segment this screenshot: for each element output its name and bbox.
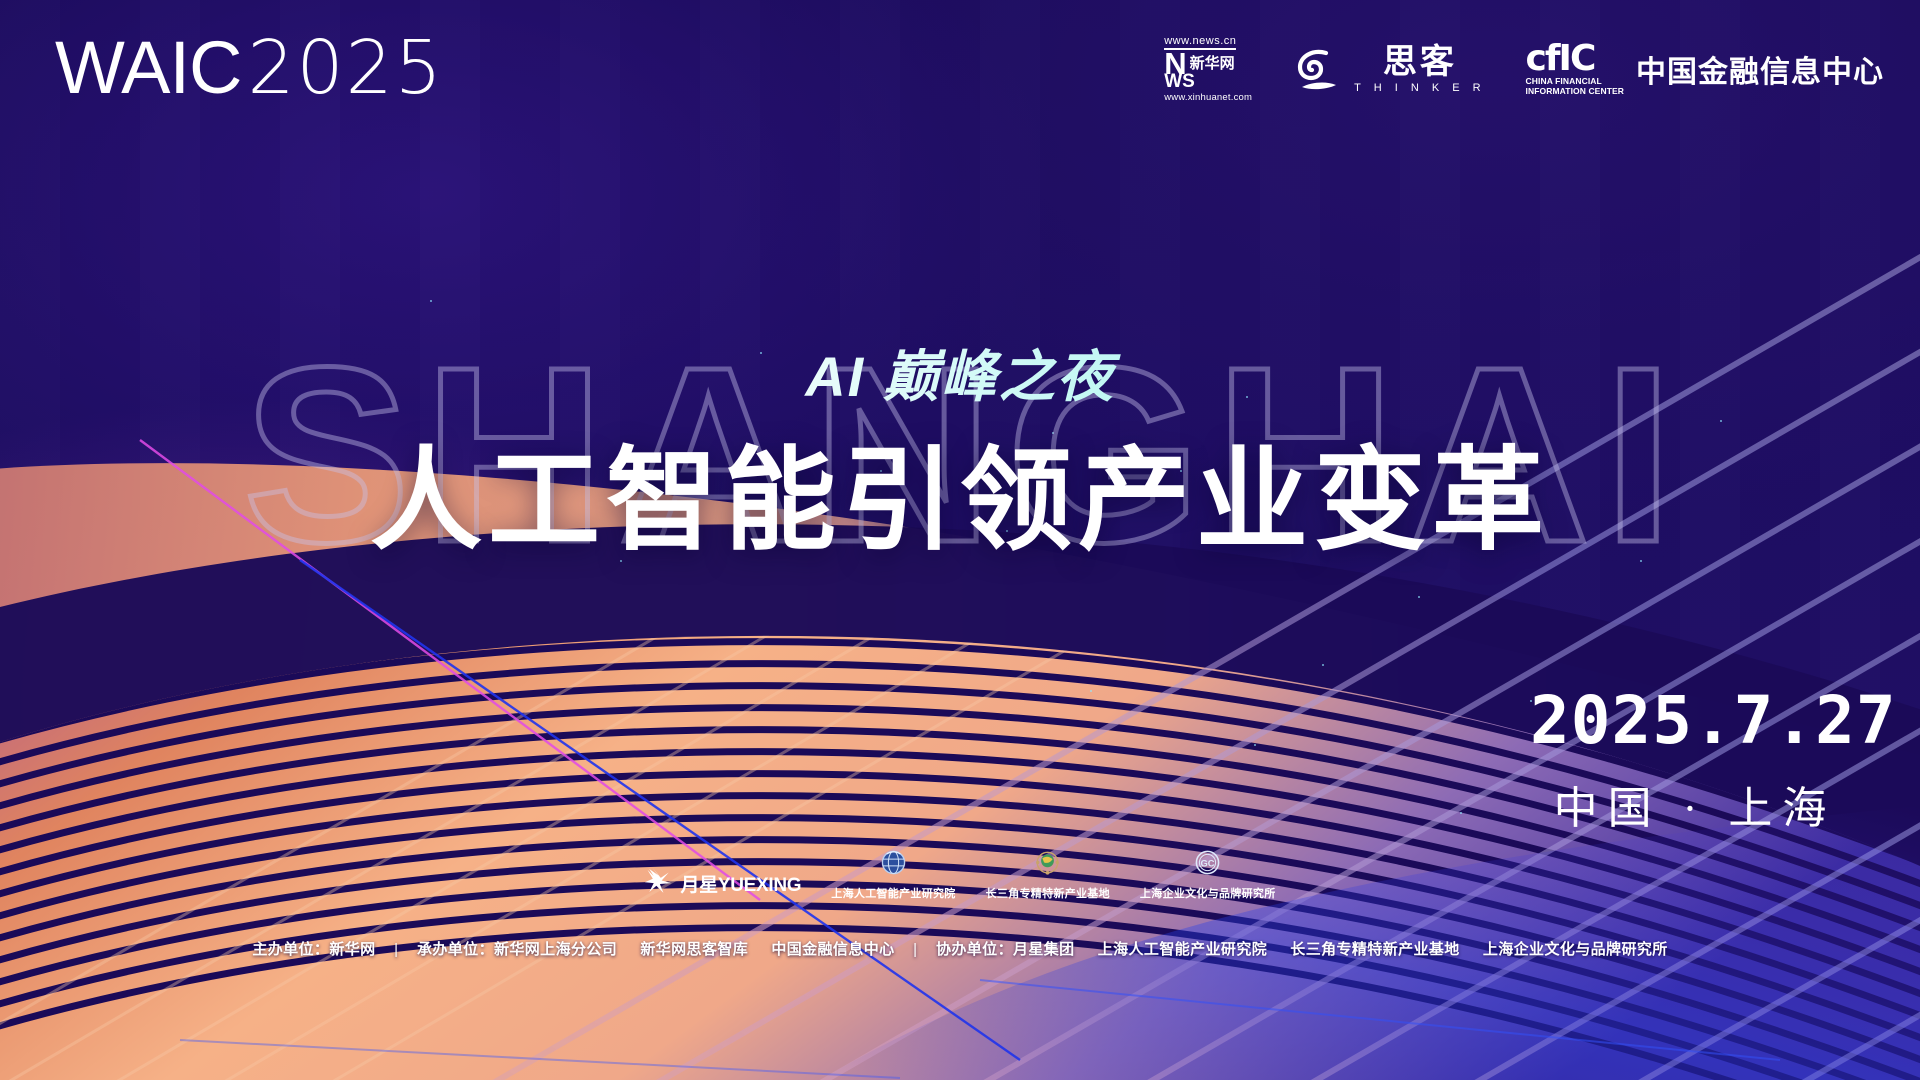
- thinker-swirl-icon: [1292, 43, 1344, 95]
- footer-host: 主办单位：新华网: [252, 941, 375, 958]
- sponsor-yrd-base: 长三角专精特新产业基地: [986, 848, 1110, 901]
- sponsor-brand-institute: GC 上海企业文化与品牌研究所: [1140, 848, 1276, 901]
- sponsor-sh-ai-institute: 上海人工智能产业研究院: [831, 848, 955, 901]
- thinker-logo: 思客 T H I N K E R: [1292, 43, 1485, 95]
- yuexing-star-icon: [644, 867, 674, 899]
- event-location: 中国 · 上海: [1530, 772, 1860, 836]
- xinhuanet-logo: www.news.cn N 新华网 WS www.xinhuanet.com: [1164, 35, 1252, 104]
- cfic-logo: cfIC CHINA FINANCIAL INFORMATION CENTER …: [1526, 42, 1884, 97]
- seal-badge-icon: GC: [1193, 848, 1222, 882]
- cfic-en-line2: INFORMATION CENTER: [1526, 86, 1624, 96]
- sponsor-logo-row: 月星YUEXING 上海人工智能产业研究院: [0, 848, 1920, 901]
- sponsor-yuexing: 月星YUEXING: [644, 867, 801, 899]
- footer-credits: 主办单位：新华网 | 承办单位：新华网上海分公司 新华网思客智库 中国金融信息中…: [0, 938, 1920, 959]
- footer-coorganizer-4: 上海企业文化与品牌研究所: [1483, 941, 1668, 958]
- footer-coorganizer-3: 长三角专精特新产业基地: [1290, 941, 1459, 958]
- xinhuanet-ws-glyph: WS: [1164, 73, 1195, 90]
- xinhuanet-zh-label: 新华网: [1190, 56, 1235, 71]
- partner-logo-row: www.news.cn N 新华网 WS www.xinhuanet.com 思…: [1164, 34, 1884, 104]
- cfic-zh-label: 中国金融信息中心: [1636, 47, 1884, 91]
- event-headline: 人工智能引领产业变革: [0, 410, 1920, 572]
- yuexing-label: 月星YUEXING: [680, 870, 801, 897]
- thinker-zh-label: 思客: [1383, 45, 1457, 79]
- footer-coorganizer: 协办单位：月星集团: [936, 941, 1075, 958]
- svg-text:GC: GC: [1201, 858, 1215, 868]
- thinker-en-label: T H I N K E R: [1354, 82, 1485, 94]
- network-globe-icon: [1033, 848, 1062, 882]
- waic-logo: WAIC 2025: [55, 34, 444, 102]
- event-subtitle: AI 巅峰之夜: [0, 332, 1920, 413]
- footer-separator-2: |: [913, 941, 917, 958]
- footer-separator-1: |: [394, 941, 398, 958]
- poster-canvas: SHANGHAI WAIC 2025 www.news.cn N 新华网 WS …: [0, 0, 1920, 1080]
- footer-organizer-2: 新华网思客智库: [640, 941, 748, 958]
- cfic-abbr: cfIC: [1526, 42, 1624, 76]
- event-date: 2025.7.27: [1530, 688, 1860, 754]
- waic-wordmark: WAIC: [55, 34, 241, 102]
- yrd-base-label: 长三角专精特新产业基地: [986, 885, 1110, 901]
- footer-organizer-3: 中国金融信息中心: [771, 941, 894, 958]
- cfic-en-line1: CHINA FINANCIAL: [1526, 76, 1602, 86]
- date-location-block: 2025.7.27 中国 · 上海: [1530, 688, 1860, 836]
- sh-ai-institute-label: 上海人工智能产业研究院: [831, 885, 955, 901]
- xinhuanet-url-bottom: www.xinhuanet.com: [1164, 92, 1252, 103]
- waic-year: 2025: [247, 34, 443, 102]
- globe-icon: [879, 848, 908, 882]
- footer-organizer: 承办单位：新华网上海分公司: [417, 941, 617, 958]
- brand-institute-label: 上海企业文化与品牌研究所: [1140, 885, 1276, 901]
- footer-coorganizer-2: 上海人工智能产业研究院: [1098, 941, 1267, 958]
